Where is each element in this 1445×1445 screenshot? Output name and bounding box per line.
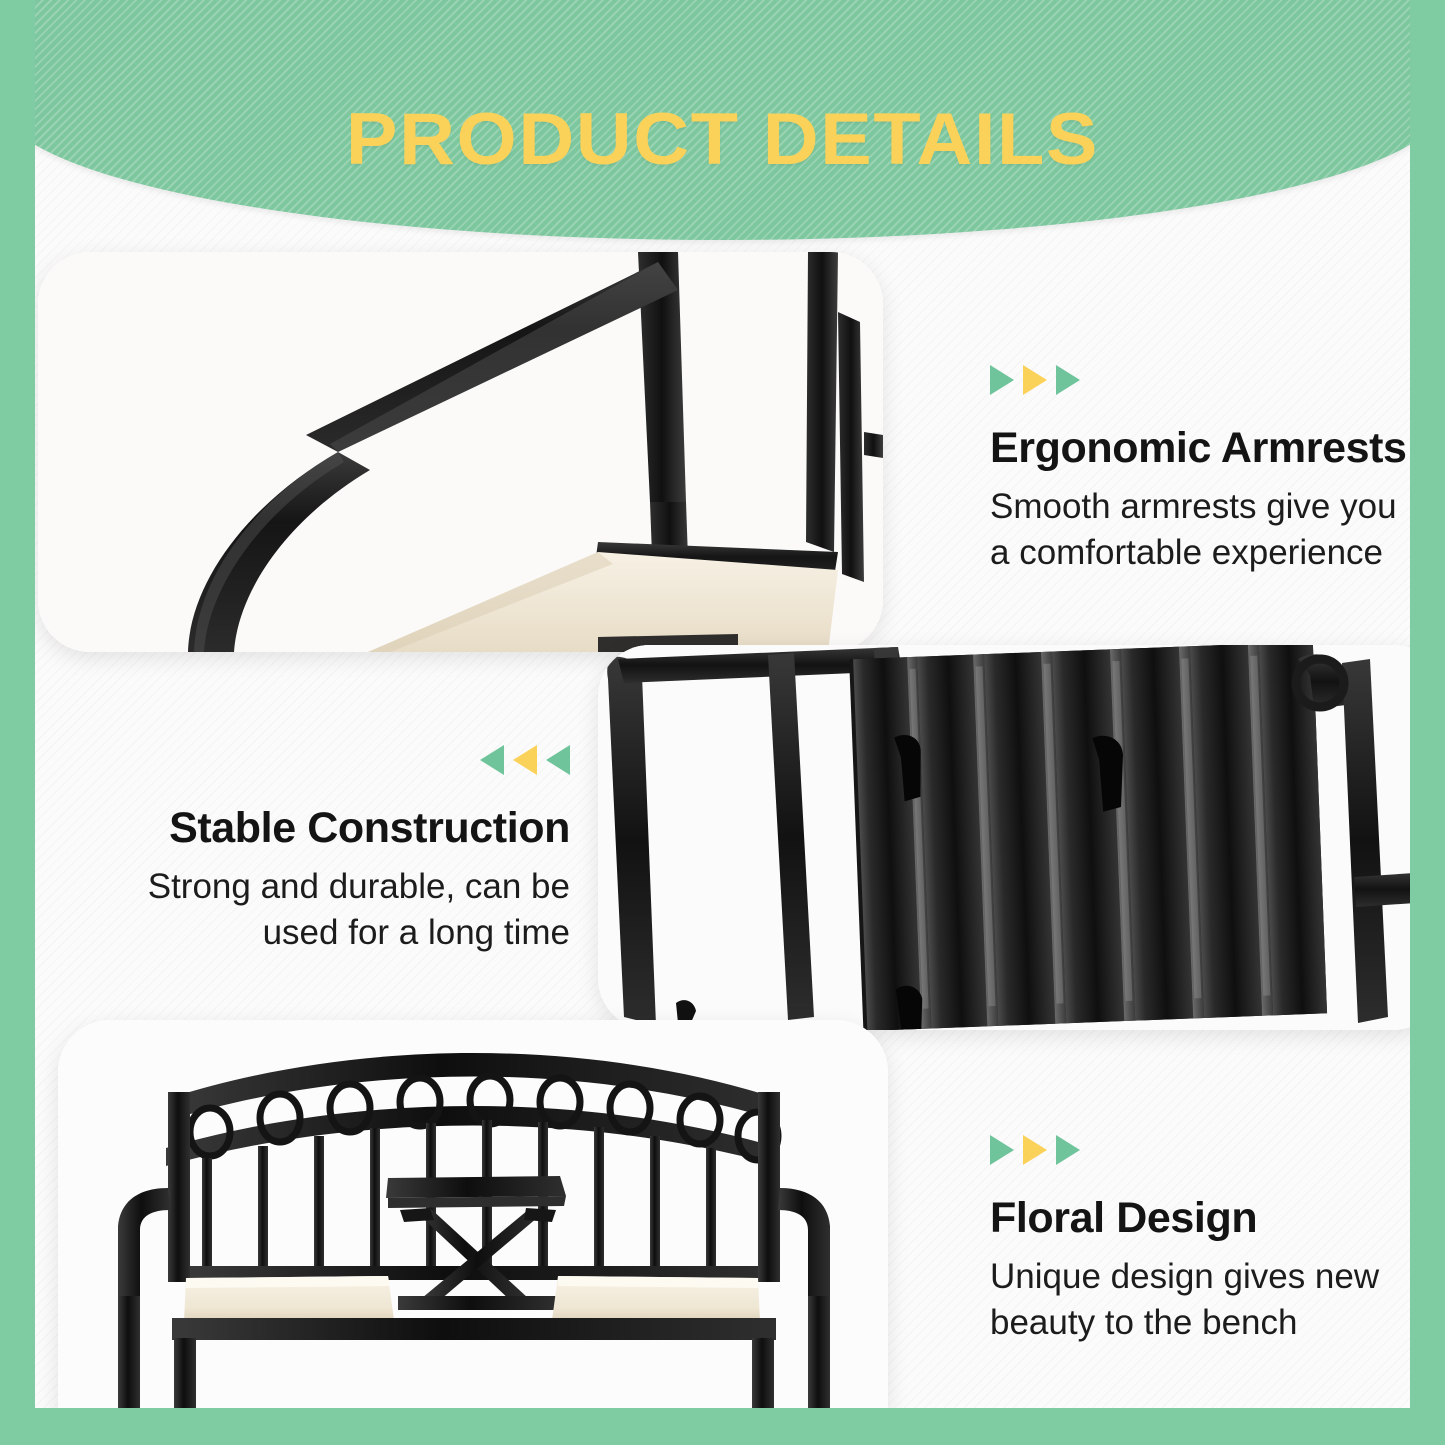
photo-card-slats [598, 645, 1410, 1030]
triangle-left-icon [546, 745, 570, 775]
feature-floral-design: Floral Design Unique design gives new be… [990, 1135, 1410, 1345]
content-canvas: PRODUCT DETAILS [35, 0, 1410, 1408]
arrow-group-right [990, 365, 1410, 395]
feature-stable-construction: Stable Construction Strong and durable, … [130, 745, 570, 955]
triangle-right-icon [990, 1135, 1014, 1165]
triangle-right-icon [1023, 1135, 1047, 1165]
feature-description: Strong and durable, can be used for a lo… [130, 864, 570, 955]
feature-description: Smooth armrests give you a comfortable e… [990, 484, 1410, 575]
feature-ergonomic-armrests: Ergonomic Armrests Smooth armrests give … [990, 365, 1410, 575]
feature-title: Floral Design [990, 1195, 1410, 1242]
bench-photo [58, 1020, 888, 1408]
triangle-left-icon [513, 745, 537, 775]
triangle-right-icon [1056, 1135, 1080, 1165]
arrow-group-right [990, 1135, 1410, 1165]
triangle-right-icon [1056, 365, 1080, 395]
photo-card-armrest [38, 252, 883, 652]
feature-title: Ergonomic Armrests [990, 425, 1410, 472]
triangle-right-icon [1023, 365, 1047, 395]
slats-photo [598, 645, 1410, 1030]
triangle-right-icon [990, 365, 1014, 395]
photo-card-bench [58, 1020, 888, 1408]
feature-title: Stable Construction [130, 805, 570, 852]
header-banner: PRODUCT DETAILS [35, 0, 1410, 240]
arrow-group-left [130, 745, 570, 775]
triangle-left-icon [480, 745, 504, 775]
page-title: PRODUCT DETAILS [35, 98, 1410, 181]
armrest-photo [38, 252, 883, 652]
feature-description: Unique design gives new beauty to the be… [990, 1254, 1410, 1345]
infographic-root: PRODUCT DETAILS [0, 0, 1445, 1445]
